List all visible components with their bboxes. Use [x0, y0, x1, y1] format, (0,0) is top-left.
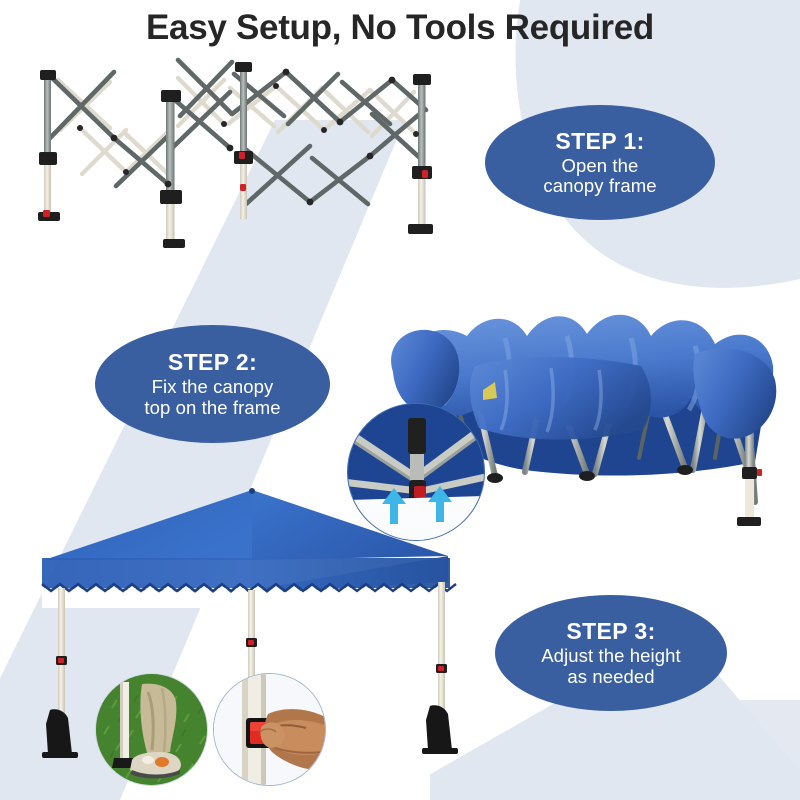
canopy-fabric-center: [470, 357, 651, 440]
step-3-line-2: as needed: [567, 667, 654, 688]
peak-attachment-detail-inset: [347, 403, 485, 541]
canopy-peak-cap: [249, 488, 255, 494]
foot-on-leg-base-detail-inset: [95, 673, 208, 786]
step-badge-1[interactable]: STEP 1: Open the canopy frame: [485, 105, 715, 220]
canopy-fabric-left-flap: [391, 330, 459, 412]
release-button-press-detail-inset: [213, 673, 326, 786]
promo-infographic: Easy Setup, No Tools Required: [0, 0, 800, 800]
canopy-roof-left: [44, 490, 252, 560]
step-2-line-2: top on the frame: [144, 398, 280, 419]
step-3-heading: STEP 3:: [566, 618, 655, 644]
step-badge-3[interactable]: STEP 3: Adjust the height as needed: [495, 595, 727, 711]
step-badge-2[interactable]: STEP 2: Fix the canopy top on the frame: [95, 325, 330, 443]
step-1-line-2: canopy frame: [543, 176, 656, 197]
page-title: Easy Setup, No Tools Required: [0, 8, 800, 48]
step-2-line-1: Fix the canopy: [152, 377, 274, 398]
step-1-heading: STEP 1:: [555, 128, 644, 154]
collapsible-scissor-frame-illustration: [18, 52, 468, 252]
step-1-line-1: Open the: [562, 156, 639, 177]
step-3-line-1: Adjust the height: [541, 646, 681, 667]
step-2-heading: STEP 2:: [168, 349, 257, 375]
